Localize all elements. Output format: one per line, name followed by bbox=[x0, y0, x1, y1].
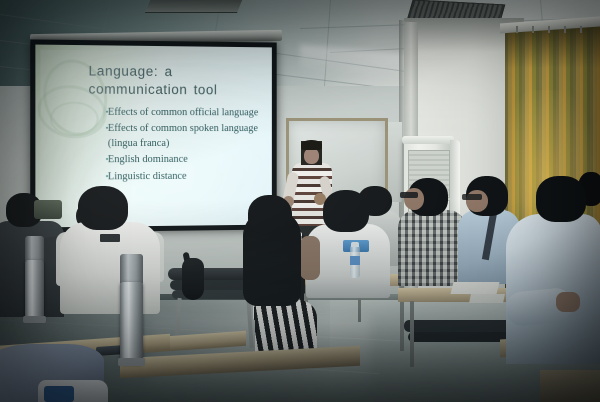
curtain-hook-icon bbox=[532, 26, 534, 33]
eyeglasses-icon bbox=[462, 194, 482, 200]
shirt-logo bbox=[100, 234, 120, 242]
slide-title: Language: a communication tool bbox=[89, 62, 266, 99]
whiteboard-edge bbox=[388, 122, 402, 202]
classroom-photo: Language: a communication tool Effects o… bbox=[0, 0, 600, 402]
curtain-hook-icon bbox=[564, 26, 566, 33]
shoulder-bag bbox=[182, 258, 204, 300]
curtain-hook-icon bbox=[548, 26, 550, 33]
slide-bullet-item: Effects of common official language bbox=[106, 106, 269, 121]
slide-watermark-icon bbox=[50, 102, 99, 136]
slide-bullet-list: Effects of common official language Effe… bbox=[95, 106, 269, 186]
slide-bullet-item: English dominance bbox=[106, 153, 269, 168]
paper-sheet bbox=[451, 282, 500, 294]
slide-bullet-item: Effects of common spoken language (lingu… bbox=[106, 122, 269, 152]
clothing-detail bbox=[44, 386, 74, 402]
thermos-flask bbox=[25, 260, 44, 320]
projection-screen: Language: a communication tool Effects o… bbox=[30, 39, 276, 232]
slide-bullet-item: Linguistic distance bbox=[106, 169, 269, 185]
ceiling-vent-icon bbox=[145, 0, 243, 13]
bottle-label bbox=[350, 256, 360, 265]
student-arm bbox=[300, 236, 320, 280]
bottle-cap bbox=[351, 242, 359, 247]
thermos-flask-base bbox=[23, 316, 46, 323]
student-head bbox=[323, 190, 369, 232]
thermos-flask-base bbox=[118, 358, 145, 366]
handheld-device bbox=[34, 200, 62, 219]
student-head bbox=[536, 176, 586, 222]
student-head bbox=[248, 195, 292, 235]
air-conditioner-top bbox=[402, 136, 454, 144]
curtain-hook-icon bbox=[580, 26, 582, 33]
student-hand bbox=[556, 292, 580, 312]
presenter-face bbox=[304, 148, 319, 164]
desk-leg bbox=[410, 301, 414, 367]
eyeglasses-icon bbox=[400, 192, 418, 198]
student-head bbox=[78, 186, 128, 230]
projected-slide: Language: a communication tool Effects o… bbox=[35, 45, 271, 228]
paper-sheet bbox=[469, 294, 505, 303]
thermos-flask bbox=[120, 282, 143, 364]
curtain-hook-icon bbox=[516, 26, 518, 33]
desk bbox=[540, 370, 600, 402]
presenter-hair bbox=[301, 140, 322, 150]
thermos-flask-cap bbox=[25, 236, 44, 262]
thermos-flask-cap bbox=[120, 254, 143, 284]
student-torso-checkered bbox=[398, 210, 466, 286]
